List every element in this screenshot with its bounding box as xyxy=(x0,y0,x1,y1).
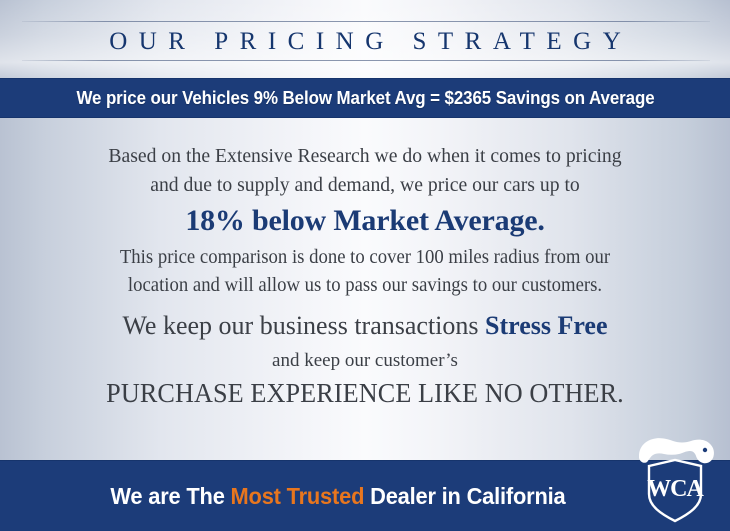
header-rule-bottom xyxy=(22,60,710,61)
research-paragraph-line-2: and due to supply and demand, we price o… xyxy=(15,171,716,200)
savings-banner: We price our Vehicles 9% Below Market Av… xyxy=(0,78,730,118)
pricing-strategy-poster: OUR PRICING STRATEGY We price our Vehicl… xyxy=(0,0,730,531)
trust-banner-prefix: We are The xyxy=(111,483,231,509)
stress-free-accent: Stress Free xyxy=(485,311,608,340)
research-paragraph: Based on the Extensive Research we do wh… xyxy=(15,142,716,200)
wca-logo: WCA xyxy=(629,426,721,526)
trust-banner: We are The Most Trusted Dealer in Califo… xyxy=(0,460,730,531)
trust-banner-accent: Most Trusted xyxy=(231,483,365,509)
stress-free-line: We keep our business transactions Stress… xyxy=(0,310,730,342)
savings-banner-text: We price our Vehicles 9% Below Market Av… xyxy=(76,88,654,109)
comparison-paragraph: This price comparison is done to cover 1… xyxy=(15,244,716,300)
stress-free-line-prefix: We keep our business transactions xyxy=(122,311,485,340)
customer-line: and keep our customer’s xyxy=(0,348,730,373)
panther-shield-icon: WCA xyxy=(629,426,721,526)
poster-body: Based on the Extensive Research we do wh… xyxy=(0,118,730,460)
comparison-paragraph-line-1: This price comparison is done to cover 1… xyxy=(15,244,716,272)
header-rule-top xyxy=(22,21,710,22)
logo-monogram: WCA xyxy=(647,476,704,502)
comparison-paragraph-line-2: location and will allow us to pass our s… xyxy=(15,272,716,300)
purchase-experience-line: PURCHASE EXPERIENCE LIKE NO OTHER. xyxy=(11,376,719,410)
discount-headline: 18% below Market Average. xyxy=(0,202,730,240)
page-title: OUR PRICING STRATEGY xyxy=(0,26,730,57)
poster-header: OUR PRICING STRATEGY xyxy=(0,0,730,78)
trust-banner-suffix: Dealer in California xyxy=(365,483,566,509)
trust-banner-text: We are The Most Trusted Dealer in Califo… xyxy=(111,483,619,510)
research-paragraph-line-1: Based on the Extensive Research we do wh… xyxy=(15,142,716,171)
